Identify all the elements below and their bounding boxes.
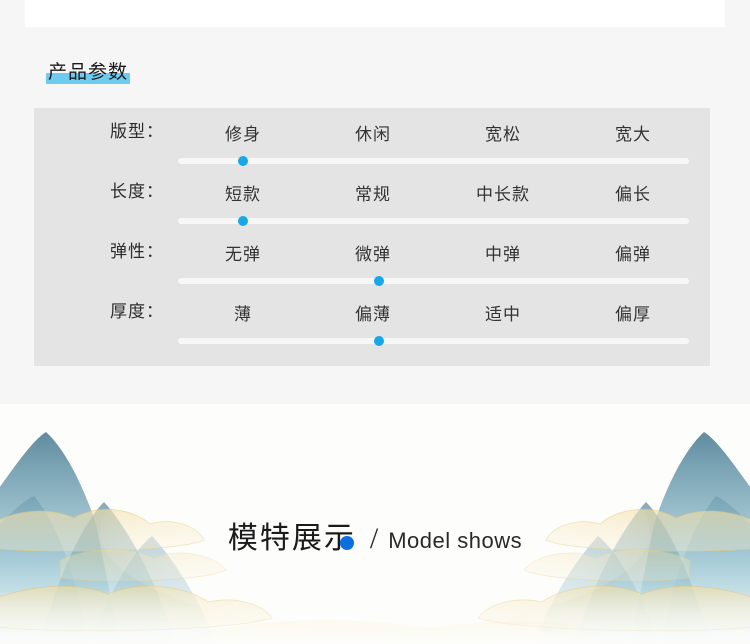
banner-separator: /	[370, 522, 378, 556]
spec-option[interactable]: 偏长	[568, 180, 698, 205]
spec-option[interactable]: 无弹	[178, 240, 308, 265]
banner-title-cn-text: 模特展示	[228, 521, 356, 556]
spec-label-fit: 版型：	[34, 108, 164, 156]
spec-option[interactable]: 修身	[178, 120, 308, 145]
spec-option[interactable]: 薄	[178, 300, 308, 325]
spec-option[interactable]: 宽大	[568, 120, 698, 145]
spec-row: 弹性： 无弹 微弹 中弹 偏弹	[34, 228, 710, 288]
spec-slider-track[interactable]	[178, 338, 689, 344]
spec-slider-track[interactable]	[178, 218, 689, 224]
spec-option[interactable]: 休闲	[308, 120, 438, 145]
spec-options-thickness: 薄 偏薄 适中 偏厚	[178, 288, 698, 336]
banner-title-cn: 模特展示	[228, 522, 370, 556]
product-detail-page: 产品参数 版型： 修身 休闲 宽松 宽大 长度： 短款 常规 中长款 偏长	[0, 0, 750, 644]
spec-option[interactable]: 中长款	[438, 180, 568, 205]
page-title-text: 产品参数	[48, 61, 128, 83]
spec-option[interactable]: 适中	[438, 300, 568, 325]
spec-slider-dot[interactable]	[374, 336, 384, 346]
spec-option[interactable]: 宽松	[438, 120, 568, 145]
spec-option[interactable]: 偏厚	[568, 300, 698, 325]
banner-title-en: Model shows	[388, 528, 522, 554]
spec-option[interactable]: 微弹	[308, 240, 438, 265]
spec-row: 长度： 短款 常规 中长款 偏长	[34, 168, 710, 228]
spec-label-length: 长度：	[34, 168, 164, 216]
spec-slider-dot[interactable]	[238, 156, 248, 166]
spec-option[interactable]: 偏薄	[308, 300, 438, 325]
banner-caption: 模特展示 / Model shows	[0, 522, 750, 556]
top-white-strip	[25, 0, 725, 27]
spec-options-length: 短款 常规 中长款 偏长	[178, 168, 698, 216]
spec-slider-dot[interactable]	[374, 276, 384, 286]
spec-label-elasticity: 弹性：	[34, 228, 164, 276]
spec-options-fit: 修身 休闲 宽松 宽大	[178, 108, 698, 156]
spec-slider-track[interactable]	[178, 158, 689, 164]
model-show-banner: 模特展示 / Model shows	[0, 404, 750, 644]
spec-option[interactable]: 偏弹	[568, 240, 698, 265]
spec-label-thickness: 厚度：	[34, 288, 164, 336]
spec-table: 版型： 修身 休闲 宽松 宽大 长度： 短款 常规 中长款 偏长 弹性：	[34, 108, 710, 366]
spec-option[interactable]: 中弹	[438, 240, 568, 265]
spec-row: 厚度： 薄 偏薄 适中 偏厚	[34, 288, 710, 348]
spec-option[interactable]: 短款	[178, 180, 308, 205]
spec-option[interactable]: 常规	[308, 180, 438, 205]
spec-slider-track[interactable]	[178, 278, 689, 284]
page-title: 产品参数	[46, 60, 130, 84]
spec-row: 版型： 修身 休闲 宽松 宽大	[34, 108, 710, 168]
banner-accent-dot	[340, 536, 354, 550]
spec-options-elasticity: 无弹 微弹 中弹 偏弹	[178, 228, 698, 276]
spec-slider-dot[interactable]	[238, 216, 248, 226]
